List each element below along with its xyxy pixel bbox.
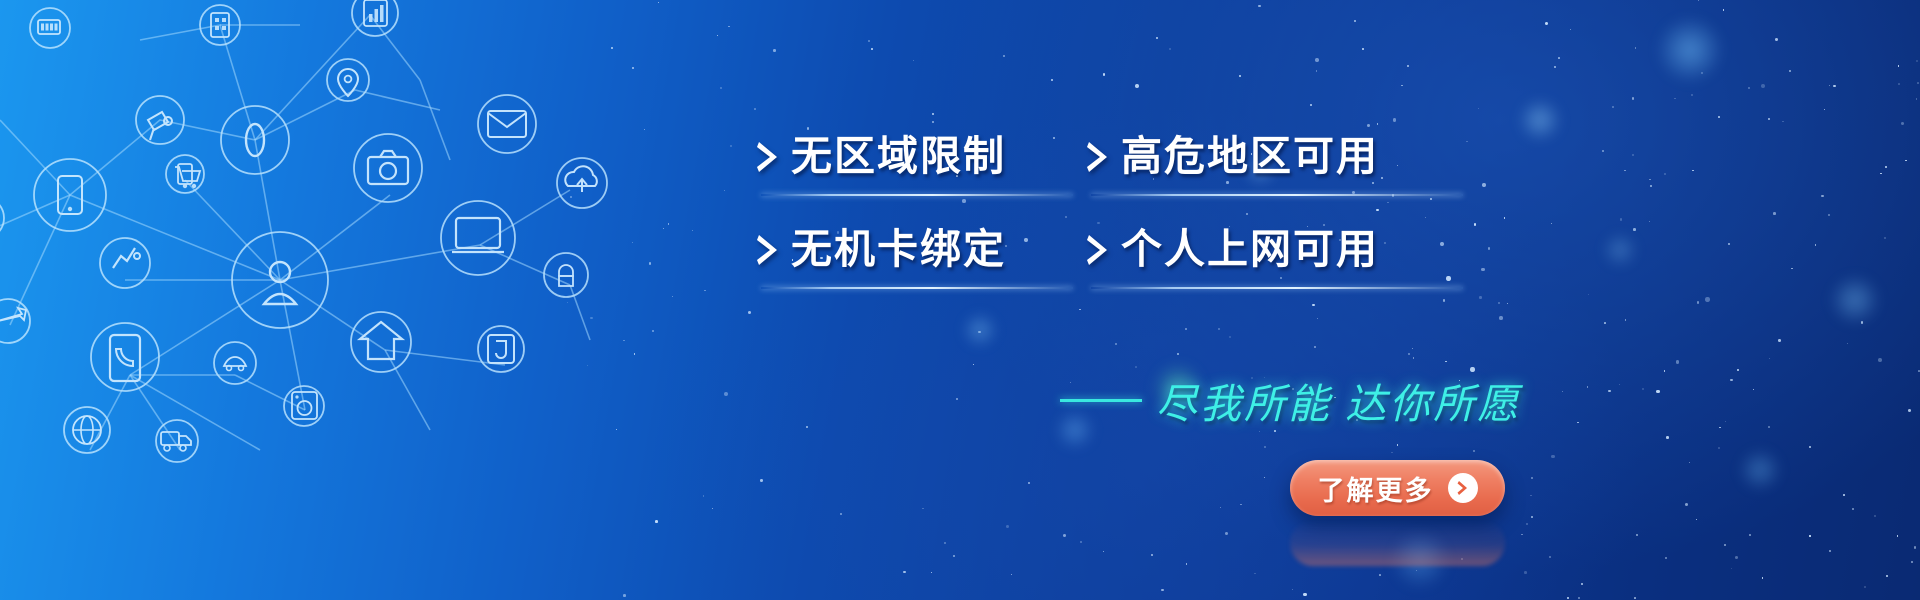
feature-row-2: 无机卡绑定 个人上网可用	[755, 218, 1545, 311]
feature-label: 无机卡绑定	[791, 229, 1006, 270]
chevron-right-icon	[755, 140, 781, 174]
tagline-text: 尽我所能 达你所愿	[1156, 370, 1521, 430]
feature-item-1[interactable]: 高危地区可用	[1085, 125, 1480, 218]
learn-more-button[interactable]: 了解更多	[1290, 460, 1505, 516]
chevron-right-icon	[755, 233, 781, 267]
feature-underline	[761, 287, 1073, 289]
learn-more-label: 了解更多	[1318, 469, 1434, 508]
banner-content: 无区域限制 高危地区可用	[745, 0, 1920, 600]
feature-underline	[761, 194, 1073, 196]
feature-label: 无区域限制	[791, 136, 1006, 177]
iot-network-illustration	[0, 0, 690, 600]
feature-underline	[1091, 194, 1463, 196]
feature-item-2[interactable]: 无机卡绑定	[755, 218, 1085, 311]
feature-item-0[interactable]: 无区域限制	[755, 125, 1085, 218]
cta-container: 了解更多	[1290, 460, 1505, 516]
feature-underline	[1091, 287, 1463, 289]
arrow-right-circle-icon	[1448, 473, 1478, 503]
feature-list: 无区域限制 高危地区可用	[755, 125, 1545, 311]
promo-banner: 无区域限制 高危地区可用	[0, 0, 1920, 600]
feature-item-3[interactable]: 个人上网可用	[1085, 218, 1480, 311]
chevron-right-icon	[1085, 140, 1111, 174]
tagline: 尽我所能 达你所愿	[1060, 370, 1521, 430]
feature-row-1: 无区域限制 高危地区可用	[755, 125, 1545, 218]
feature-label: 个人上网可用	[1121, 229, 1379, 270]
cta-reflection	[1290, 520, 1505, 566]
feature-label: 高危地区可用	[1121, 136, 1379, 177]
chevron-right-icon	[1085, 233, 1111, 267]
tagline-dash-icon	[1060, 399, 1142, 402]
